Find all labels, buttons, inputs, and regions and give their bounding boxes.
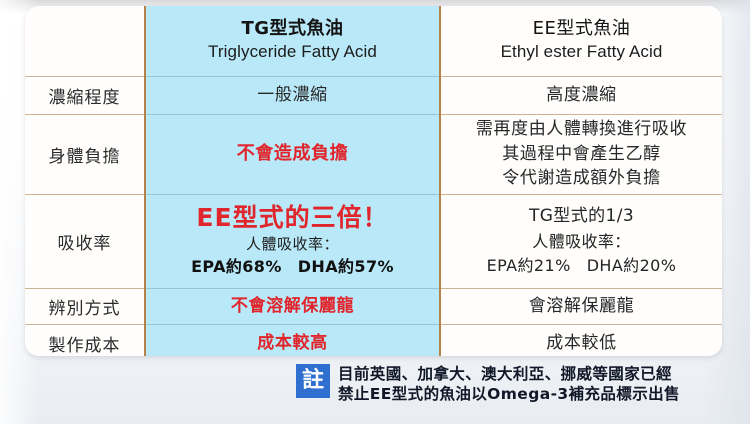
row-label-production-cost: 製作成本 bbox=[25, 324, 145, 356]
header-corner-cell bbox=[25, 6, 145, 76]
table-row: 辨別方式 不會溶解保麗龍 會溶解保麗龍 bbox=[25, 288, 722, 324]
cell-ee-concentration: 高度濃縮 bbox=[440, 76, 722, 114]
cell-ee-production-cost: 成本較低 bbox=[440, 324, 722, 356]
cell-ee-body-burden: 需再度由人體轉換進行吸收 其過程中會產生乙醇 令代謝造成額外負擔 bbox=[440, 114, 722, 194]
note-badge: 註 bbox=[296, 364, 330, 398]
cell-sublabel: 人體吸收率： bbox=[150, 233, 435, 256]
row-label-text: 辨別方式 bbox=[49, 299, 121, 319]
cell-ee-absorption-rate: TG型式的1/3 人體吸收率： EPA約21%DHA約20% bbox=[440, 194, 722, 288]
row-label-text: 濃縮程度 bbox=[49, 88, 121, 108]
cell-tg-absorption-rate: EE型式的三倍！ 人體吸收率： EPA約68%DHA約57% bbox=[145, 194, 440, 288]
cell-tg-identification: 不會溶解保麗龍 bbox=[145, 288, 440, 324]
header-cell-tg: TG型式魚油 Triglyceride Fatty Acid bbox=[145, 6, 440, 76]
cell-value: 不會溶解保麗龍 bbox=[231, 296, 354, 316]
table-row: 製作成本 成本較高 成本較低 bbox=[25, 324, 722, 356]
row-label-text: 吸收率 bbox=[58, 234, 112, 254]
header-tg-chinese: TG型式魚油 bbox=[150, 18, 435, 41]
cell-value: 高度濃縮 bbox=[546, 85, 616, 105]
cell-tg-production-cost: 成本較高 bbox=[145, 324, 440, 356]
comparison-table: TG型式魚油 Triglyceride Fatty Acid EE型式魚油 Et… bbox=[25, 6, 722, 356]
cell-epa-value: EPA約68% bbox=[191, 257, 282, 276]
cell-value-line-2: 其過程中會產生乙醇 bbox=[445, 142, 718, 167]
cell-value: 不會造成負擔 bbox=[237, 143, 349, 164]
cell-tg-body-burden: 不會造成負擔 bbox=[145, 114, 440, 194]
row-label-concentration: 濃縮程度 bbox=[25, 76, 145, 114]
table-row: 濃縮程度 一般濃縮 高度濃縮 bbox=[25, 76, 722, 114]
comparison-table-card: TG型式魚油 Triglyceride Fatty Acid EE型式魚油 Et… bbox=[25, 6, 722, 356]
row-label-text: 製作成本 bbox=[49, 336, 121, 356]
cell-value-line-3: 令代謝造成額外負擔 bbox=[445, 166, 718, 191]
cell-epa-value: EPA約21% bbox=[487, 256, 571, 275]
cell-sublabel: 人體吸收率： bbox=[445, 230, 718, 254]
row-label-body-burden: 身體負擔 bbox=[25, 114, 145, 194]
row-label-absorption-rate: 吸收率 bbox=[25, 194, 145, 288]
table-header-row: TG型式魚油 Triglyceride Fatty Acid EE型式魚油 Et… bbox=[25, 6, 722, 76]
cell-epa-dha: EPA約21%DHA約20% bbox=[445, 254, 718, 278]
header-cell-ee: EE型式魚油 Ethyl ester Fatty Acid bbox=[440, 6, 722, 76]
cell-tg-concentration: 一般濃縮 bbox=[145, 76, 440, 114]
cell-value: 成本較低 bbox=[546, 333, 616, 353]
table-row: 吸收率 EE型式的三倍！ 人體吸收率： EPA約68%DHA約57% TG型式的… bbox=[25, 194, 722, 288]
cell-value: 會溶解保麗龍 bbox=[529, 296, 635, 316]
table-row: 身體負擔 不會造成負擔 需再度由人體轉換進行吸收 其過程中會產生乙醇 令代謝造成… bbox=[25, 114, 722, 194]
infographic-canvas: TG型式魚油 Triglyceride Fatty Acid EE型式魚油 Et… bbox=[0, 0, 750, 424]
row-label-identification: 辨別方式 bbox=[25, 288, 145, 324]
cell-headline: TG型式的1/3 bbox=[445, 204, 718, 230]
cell-value: 成本較高 bbox=[257, 333, 327, 353]
cell-dha-value: DHA約20% bbox=[587, 256, 677, 275]
footnote-text: 目前英國、加拿大、澳大利亞、挪威等國家已經 禁止EE型式的魚油以Omega-3補… bbox=[338, 364, 680, 405]
cell-value-line-1: 需再度由人體轉換進行吸收 bbox=[445, 117, 718, 142]
header-ee-chinese: EE型式魚油 bbox=[445, 18, 718, 41]
footnote: 註 目前英國、加拿大、澳大利亞、挪威等國家已經 禁止EE型式的魚油以Omega-… bbox=[296, 364, 680, 405]
header-ee-english: Ethyl ester Fatty Acid bbox=[445, 41, 718, 63]
cell-value: 一般濃縮 bbox=[257, 85, 327, 105]
cell-dha-value: DHA約57% bbox=[298, 257, 394, 276]
header-tg-english: Triglyceride Fatty Acid bbox=[150, 41, 435, 63]
row-label-text: 身體負擔 bbox=[49, 147, 121, 167]
cell-epa-dha: EPA約68%DHA約57% bbox=[150, 255, 435, 278]
cell-ee-identification: 會溶解保麗龍 bbox=[440, 288, 722, 324]
cell-headline: EE型式的三倍！ bbox=[150, 204, 435, 233]
